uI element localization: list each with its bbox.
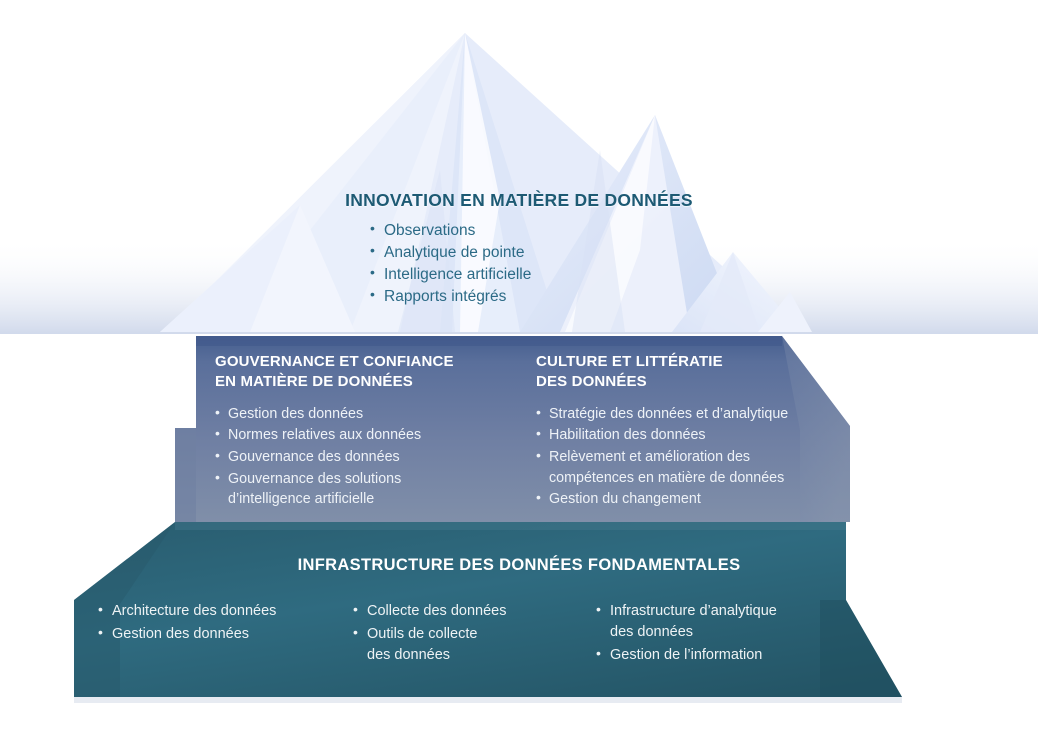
list-item: Intelligence artificielle <box>370 264 600 286</box>
column-gouvernance-title: GOUVERNANCE ET CONFIANCE EN MATIÈRE DE D… <box>215 352 500 392</box>
list-item: Normes relatives aux données <box>215 425 500 446</box>
tier-innovation-title: INNOVATION EN MATIÈRE DE DONNÉES <box>0 190 1038 211</box>
tier-innovation-list: Observations Analytique de pointe Intell… <box>370 220 600 308</box>
list-item: Infrastructure d’analytiquedes données <box>596 601 856 643</box>
column-architecture: Architecture des données Gestion des don… <box>98 601 353 668</box>
tier-infrastructure: INFRASTRUCTURE DES DONNÉES FONDAMENTALES… <box>0 556 1038 668</box>
list-item: Habilitation des données <box>536 425 836 446</box>
list-item-text-continued: d’intelligence artificielle <box>228 489 500 510</box>
list-item: Outils de collectedes données <box>353 624 596 666</box>
column-gouvernance-list: Gestion des données Normes relatives aux… <box>215 404 500 510</box>
column-analytique-list: Infrastructure d’analytiquedes données G… <box>596 601 856 666</box>
list-item: Gestion de l’information <box>596 645 856 666</box>
list-item: Gouvernance des solutionsd’intelligence … <box>215 469 500 510</box>
tier-innovation: INNOVATION EN MATIÈRE DE DONNÉES Observa… <box>0 190 1038 308</box>
list-item: Rapports intégrés <box>370 286 600 308</box>
list-item-text: Gouvernance des solutions <box>228 471 401 487</box>
list-item: Stratégie des données et d’analytique <box>536 404 836 425</box>
list-item: Relèvement et amélioration descompétence… <box>536 447 836 488</box>
list-item: Gestion des données <box>98 624 353 645</box>
list-item-text-continued: compétences en matière de données <box>549 468 836 489</box>
column-analytique: Infrastructure d’analytiquedes données G… <box>596 601 856 668</box>
list-item-text-continued: des données <box>367 645 596 666</box>
column-collecte: Collecte des données Outils de collected… <box>353 601 596 668</box>
list-item: Architecture des données <box>98 601 353 622</box>
list-item-text: Infrastructure d’analytique <box>610 603 777 619</box>
list-item: Observations <box>370 220 600 242</box>
list-item: Analytique de pointe <box>370 242 600 264</box>
column-architecture-list: Architecture des données Gestion des don… <box>98 601 353 645</box>
iceberg-diagram: INNOVATION EN MATIÈRE DE DONNÉES Observa… <box>0 0 1038 747</box>
column-gouvernance: GOUVERNANCE ET CONFIANCE EN MATIÈRE DE D… <box>215 352 500 511</box>
tier-infrastructure-title: INFRASTRUCTURE DES DONNÉES FONDAMENTALES <box>0 556 1038 575</box>
column-culture-title: CULTURE ET LITTÉRATIE DES DONNÉES <box>536 352 836 392</box>
list-item: Gestion des données <box>215 404 500 425</box>
column-collecte-list: Collecte des données Outils de collected… <box>353 601 596 666</box>
list-item-text: Outils de collecte <box>367 626 477 642</box>
tier-governance-culture: GOUVERNANCE ET CONFIANCE EN MATIÈRE DE D… <box>215 352 855 511</box>
list-item: Gouvernance des données <box>215 447 500 468</box>
list-item-text-continued: des données <box>610 622 856 643</box>
list-item: Gestion du changement <box>536 489 836 510</box>
column-culture: CULTURE ET LITTÉRATIE DES DONNÉES Straté… <box>536 352 836 511</box>
list-item-text: Relèvement et amélioration des <box>549 449 750 465</box>
list-item: Collecte des données <box>353 601 596 622</box>
column-culture-list: Stratégie des données et d’analytique Ha… <box>536 404 836 510</box>
